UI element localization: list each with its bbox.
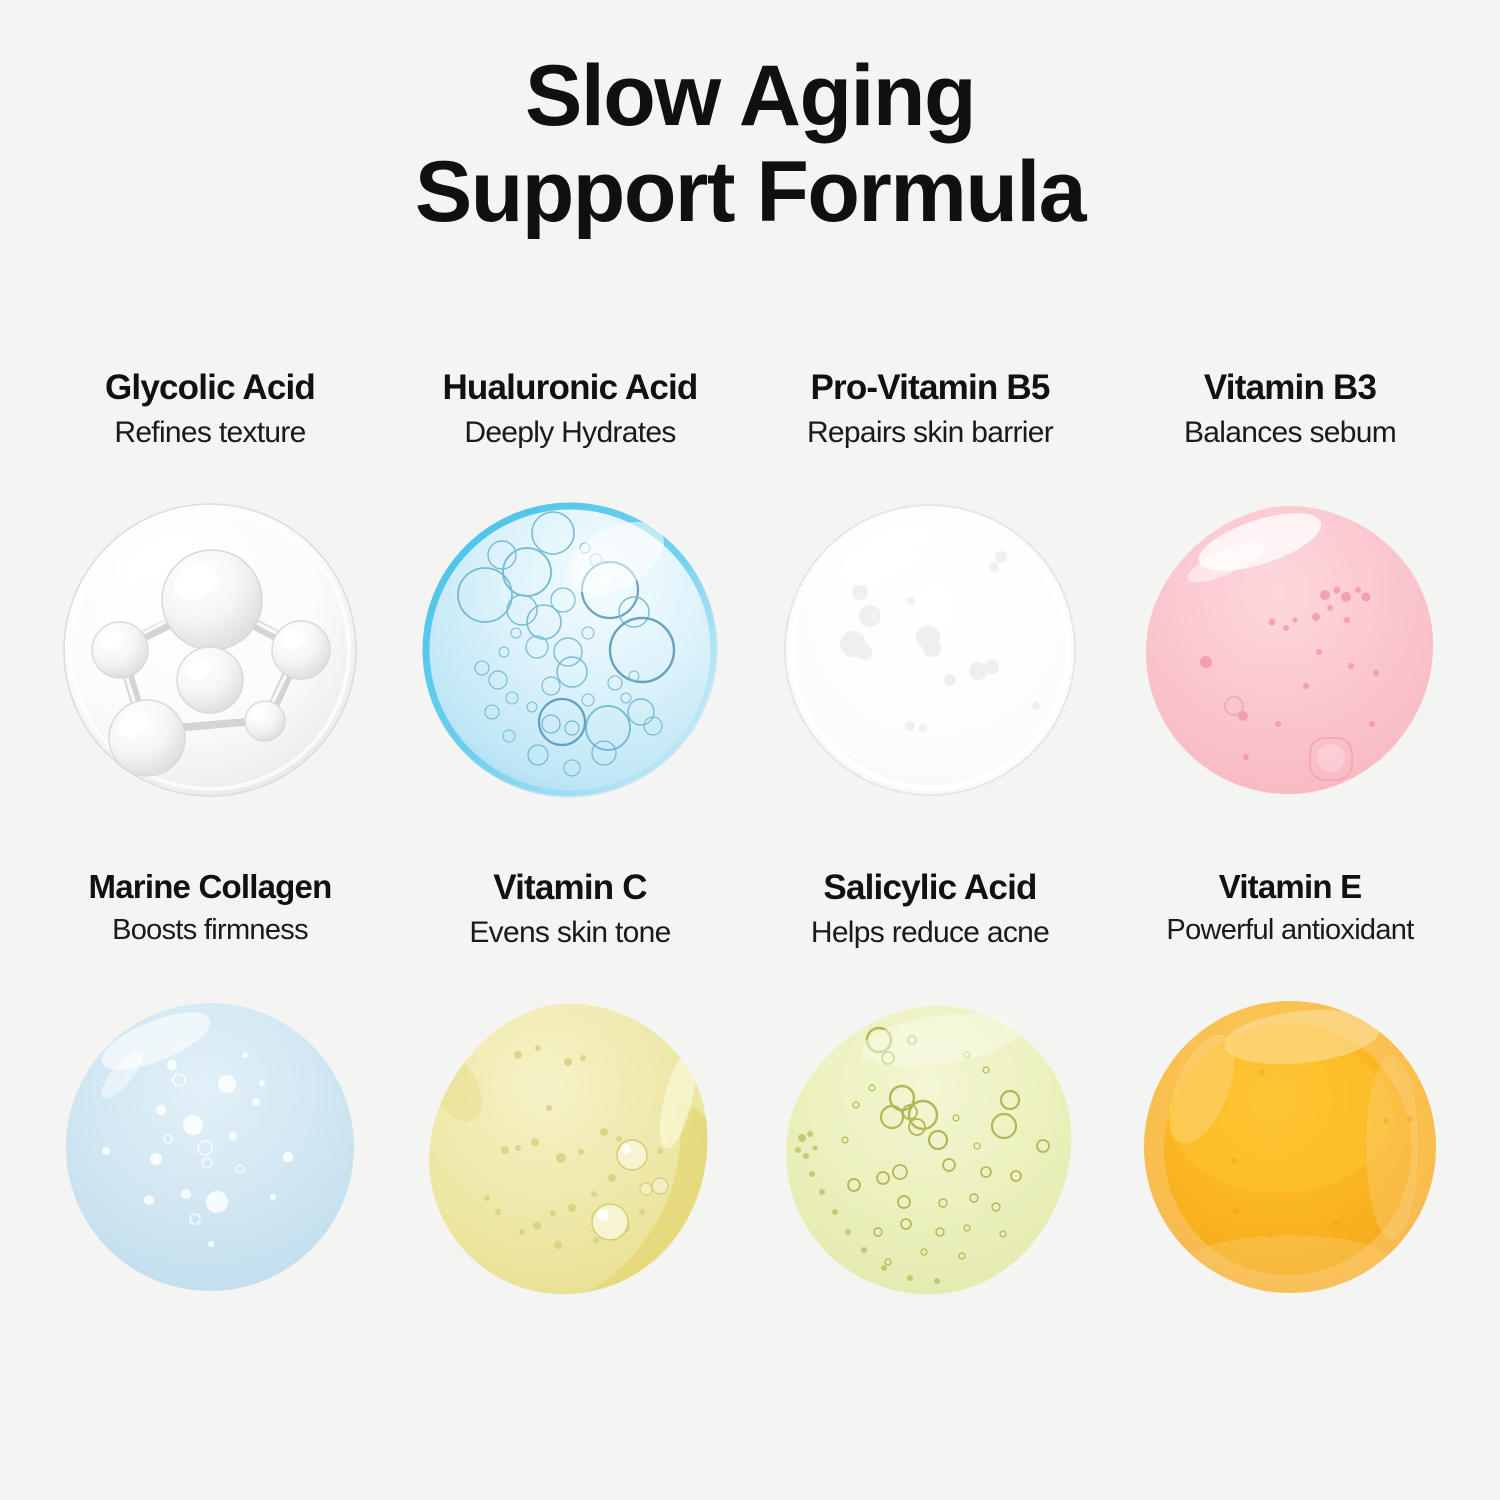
ingredient-description: Boosts firmness — [112, 916, 308, 945]
yellow-green-bubble-gel-icon — [780, 1000, 1080, 1300]
ingredient-name: Marine Collagen — [89, 870, 332, 903]
ingredient-description: Deeply Hydrates — [464, 418, 675, 448]
ingredient-name: Vitamin B3 — [1204, 370, 1376, 405]
ingredient-name: Pro-Vitamin B5 — [810, 370, 1049, 405]
ingredient-description: Balances sebum — [1184, 418, 1396, 448]
ingredient-card-vitamin-c: Vitamin C Evens skin tone — [390, 870, 750, 1370]
ingredient-description: Evens skin tone — [469, 918, 670, 948]
pink-gel-icon — [1140, 500, 1440, 800]
orange-oil-droplet-icon — [1140, 997, 1440, 1297]
ingredient-name: Vitamin E — [1219, 870, 1362, 903]
ingredient-card-vitamin-e: Vitamin E Powerful antioxidant — [1110, 870, 1470, 1370]
product-ingredient-infographic: Slow Aging Support Formula Glycolic Acid… — [0, 0, 1500, 1500]
ingredient-swatch-clear-gel — [780, 500, 1080, 800]
ingredient-description: Powerful antioxidant — [1166, 916, 1413, 945]
ingredient-name: Vitamin C — [493, 870, 647, 905]
clear-gel-icon — [780, 500, 1080, 800]
ingredient-swatch-pale-yellow-serum — [420, 1000, 720, 1300]
ingredient-card-hualuronic-acid: Hualuronic Acid Deeply Hydrates — [390, 370, 750, 870]
ingredient-description: Refines texture — [114, 418, 305, 448]
blue-bubble-gel-icon — [420, 500, 720, 800]
ingredient-swatch-orange-oil-droplet — [1140, 997, 1440, 1297]
molecule-sphere-icon — [60, 500, 360, 800]
ingredient-name: Salicylic Acid — [823, 870, 1036, 905]
ingredient-swatch-pink-gel — [1140, 500, 1440, 800]
ingredient-card-marine-collagen: Marine Collagen Boosts firmness — [30, 870, 390, 1370]
ingredient-card-glycolic-acid: Glycolic Acid Refines texture — [30, 370, 390, 870]
page-title-line-1: Slow Aging — [0, 48, 1500, 144]
ingredient-description: Repairs skin barrier — [807, 418, 1053, 448]
ingredient-swatch-blue-bubble-gel — [420, 500, 720, 800]
page-title: Slow Aging Support Formula — [0, 48, 1500, 241]
ingredient-description: Helps reduce acne — [811, 918, 1049, 948]
ingredient-card-vitamin-b3: Vitamin B3 Balances sebum — [1110, 370, 1470, 870]
ingredient-card-salicylic-acid: Salicylic Acid Helps reduce acne — [750, 870, 1110, 1370]
pale-blue-gel-icon — [60, 997, 360, 1297]
ingredient-swatch-pale-blue-gel — [60, 997, 360, 1297]
page-title-line-2: Support Formula — [0, 144, 1500, 240]
ingredient-name: Hualuronic Acid — [442, 370, 697, 405]
ingredient-card-pro-vitamin-b5: Pro-Vitamin B5 Repairs skin barrier — [750, 370, 1110, 870]
ingredient-name: Glycolic Acid — [105, 370, 315, 405]
pale-yellow-serum-icon — [420, 1000, 720, 1300]
ingredient-swatch-yellow-green-bubble-gel — [780, 1000, 1080, 1300]
ingredient-swatch-molecule-sphere — [60, 500, 360, 800]
ingredient-grid: Glycolic Acid Refines texture — [30, 370, 1470, 1370]
